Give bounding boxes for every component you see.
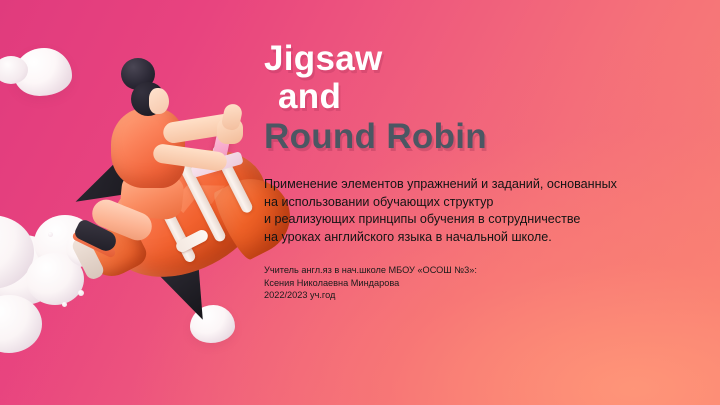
presentation-slide: Jigsaw and Round Robin Применение элемен…: [0, 0, 720, 405]
slide-text-block: Jigsaw and Round Robin Применение элемен…: [264, 40, 684, 302]
rider-face: [149, 88, 169, 114]
smoke-dot-icon: [48, 232, 53, 237]
body-line: на использовании обучающих структур: [264, 194, 684, 212]
slide-attribution: Учитель англ.яз в нач.школе МБОУ «ОСОШ №…: [264, 264, 684, 302]
slide-title-line-2: and: [278, 78, 684, 116]
attribution-line: 2022/2023 уч.год: [264, 289, 684, 302]
slide-title-line-1: Jigsaw: [264, 40, 684, 78]
slide-body-text: Применение элементов упражнений и задани…: [264, 176, 684, 246]
attribution-line: Учитель англ.яз в нач.школе МБОУ «ОСОШ №…: [264, 264, 684, 277]
body-line: на уроках английского языка в начальной …: [264, 229, 684, 247]
attribution-line: Ксения Николаевна Миндарова: [264, 277, 684, 290]
body-line: Применение элементов упражнений и задани…: [264, 176, 684, 194]
person-riding-rocket-illustration: [55, 30, 275, 315]
body-line: и реализующих принципы обучения в сотруд…: [264, 211, 684, 229]
slide-title-line-3: Round Robin: [264, 118, 684, 156]
